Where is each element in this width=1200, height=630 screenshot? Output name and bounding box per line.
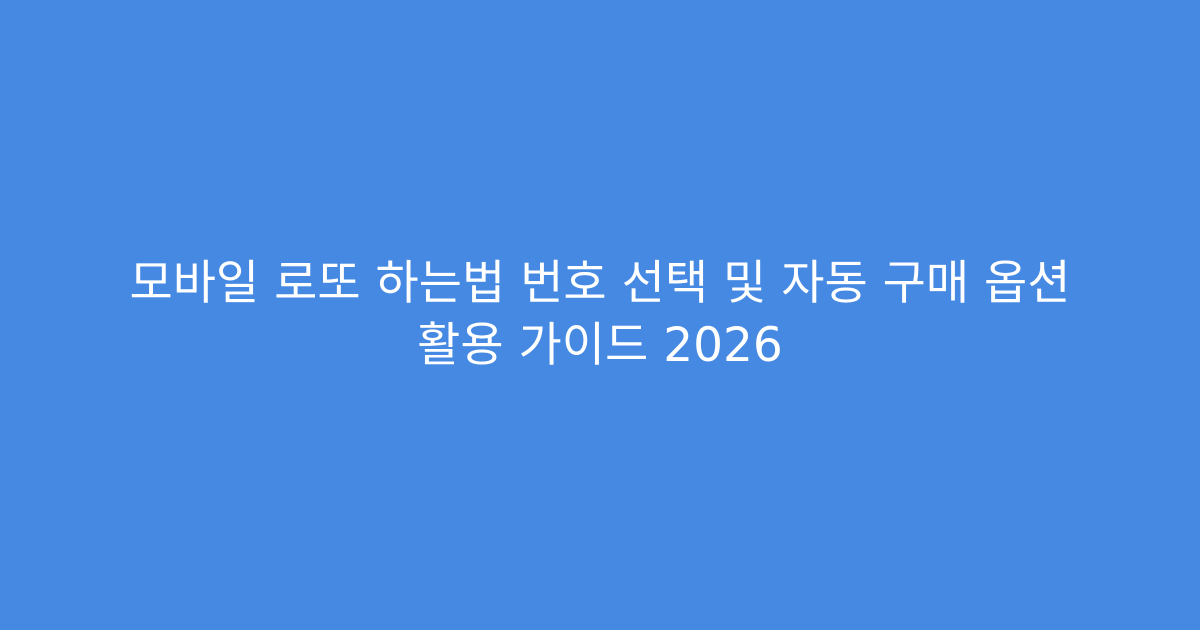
share-card: 모바일 로또 하는법 번호 선택 및 자동 구매 옵션 활용 가이드 2026 bbox=[0, 0, 1200, 630]
headline-block: 모바일 로또 하는법 번호 선택 및 자동 구매 옵션 활용 가이드 2026 bbox=[80, 253, 1120, 377]
page-title: 모바일 로또 하는법 번호 선택 및 자동 구매 옵션 활용 가이드 2026 bbox=[80, 253, 1120, 377]
